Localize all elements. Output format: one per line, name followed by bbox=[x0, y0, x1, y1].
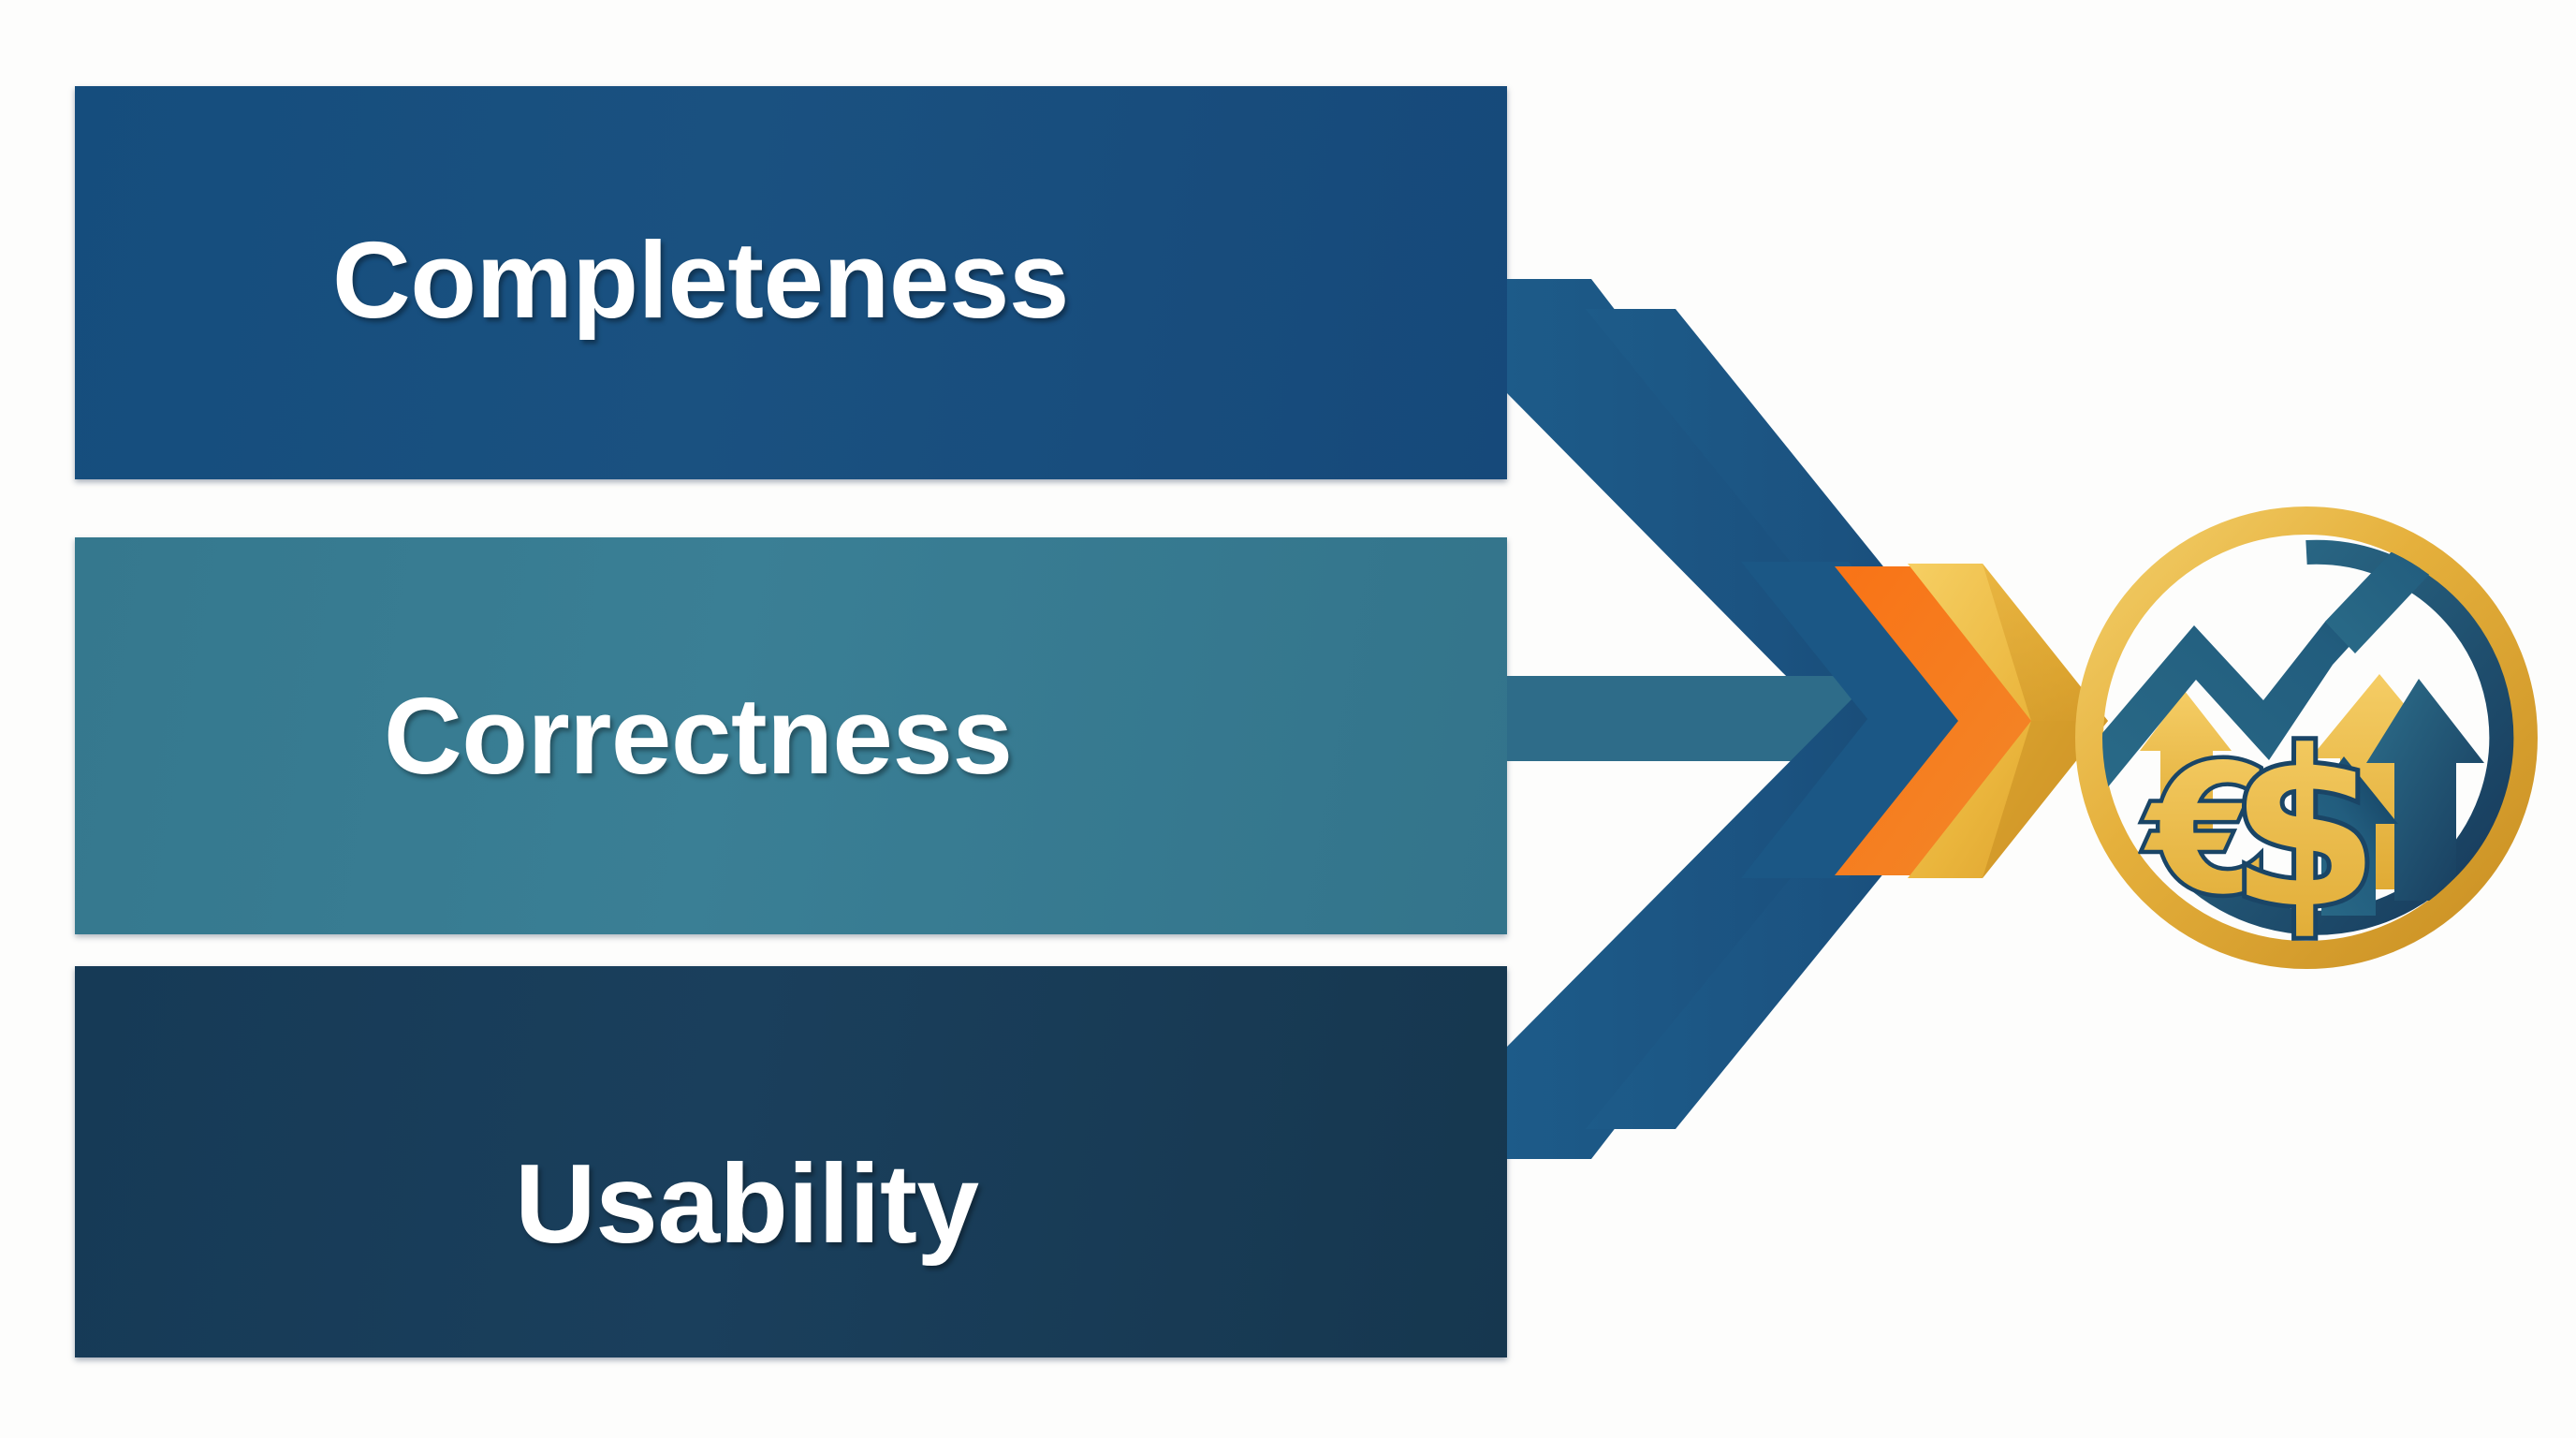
svg-text:$: $ bbox=[2230, 706, 2379, 956]
criteria-bar-correctness[interactable]: Correctness bbox=[75, 537, 1507, 934]
criteria-label-completeness: Completeness bbox=[332, 226, 1069, 334]
criteria-bar-completeness[interactable]: Completeness bbox=[75, 86, 1507, 479]
arrow-band-lower-inner bbox=[1586, 721, 2008, 1129]
arrow-band-middle bbox=[1507, 676, 1900, 761]
arrow-band-upper-inner bbox=[1586, 309, 2008, 721]
badge-dollar-icon: $ bbox=[2230, 706, 2379, 956]
criteria-bar-usability[interactable]: Usability bbox=[75, 966, 1507, 1357]
arrow-chevron-blue bbox=[1741, 562, 1975, 878]
arrow-chevron-orange bbox=[1835, 566, 2056, 875]
arrow-band-lower-outer bbox=[1507, 693, 1952, 1159]
arrow-band-upper-outer bbox=[1507, 279, 1952, 749]
diagram-canvas: Completeness Correctness Usability bbox=[0, 0, 2576, 1438]
criteria-label-usability: Usability bbox=[515, 1148, 979, 1260]
criteria-label-correctness: Correctness bbox=[384, 682, 1012, 790]
financial-growth-badge[interactable]: € $ bbox=[2046, 449, 2570, 1011]
